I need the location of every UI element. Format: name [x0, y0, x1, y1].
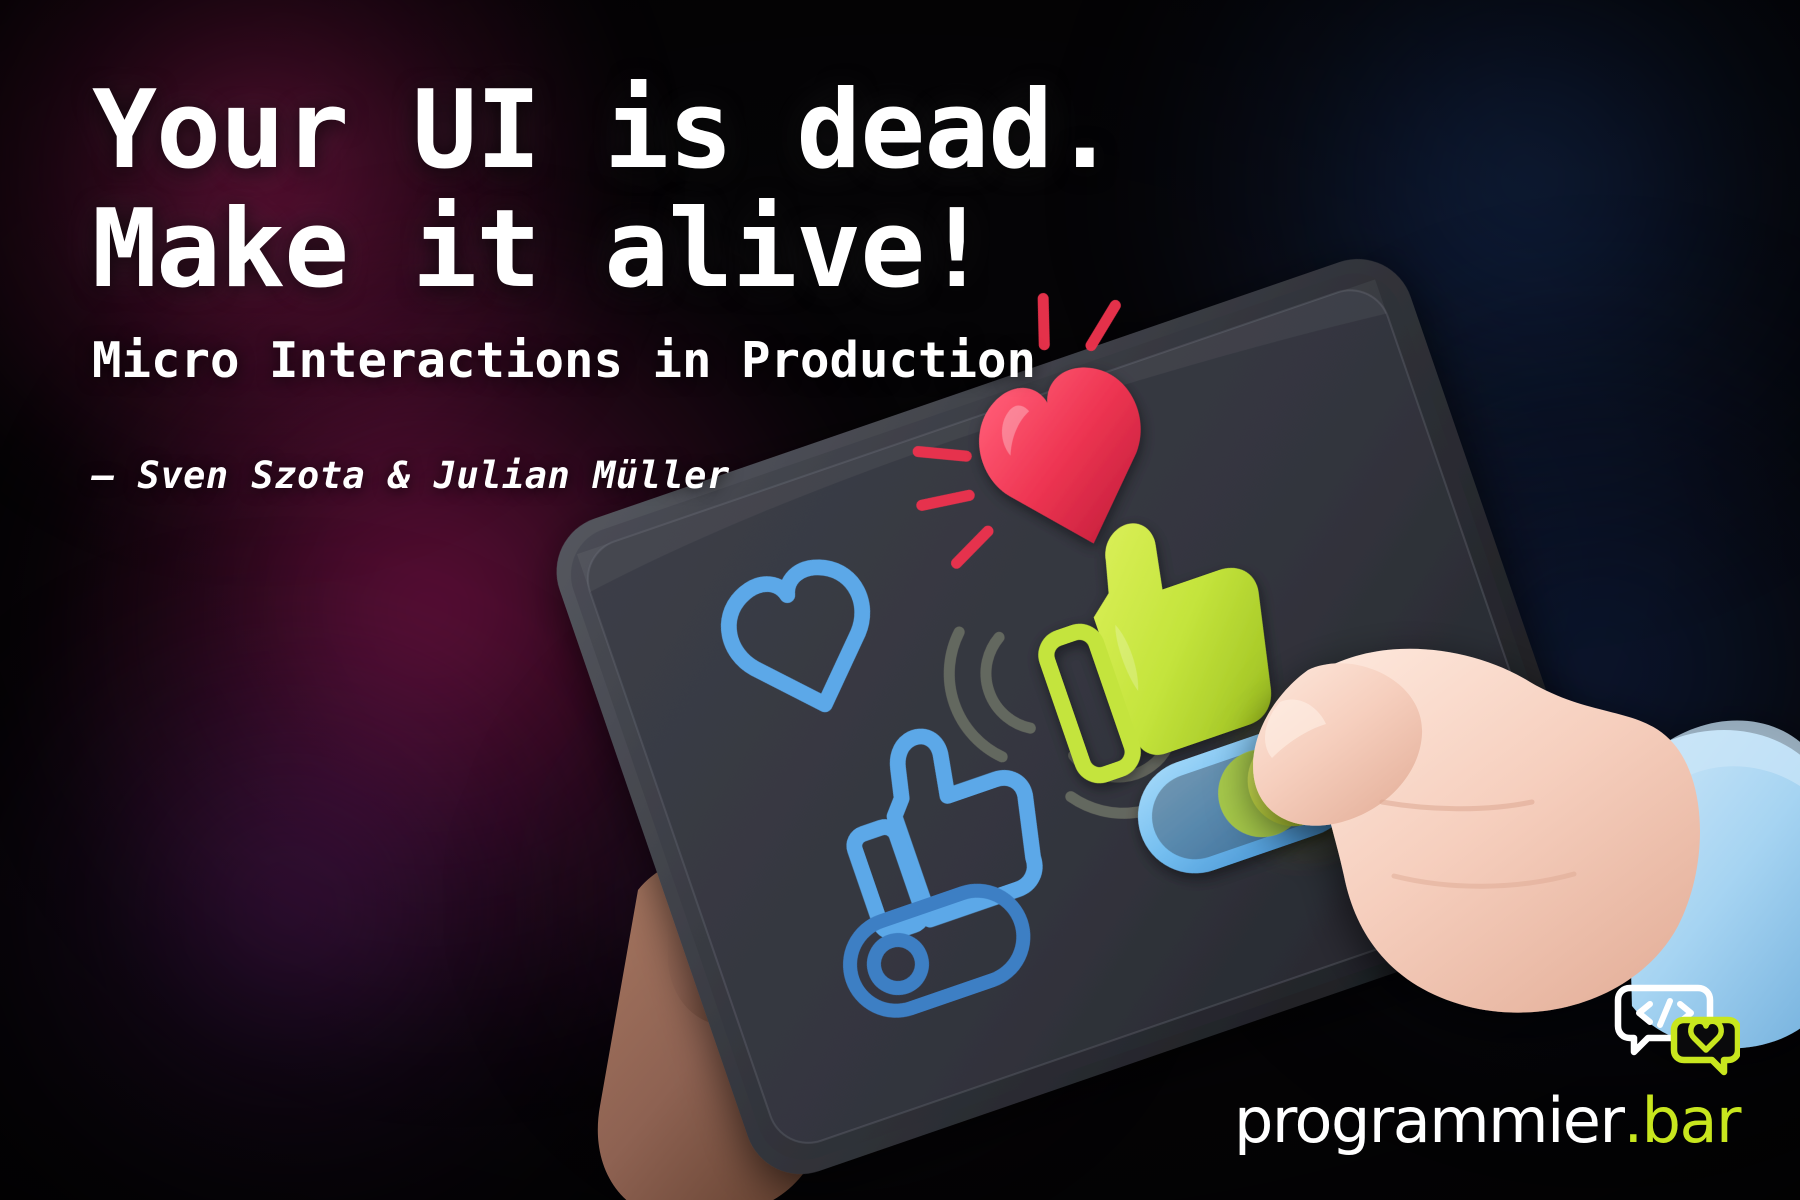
subtitle: Micro Interactions in Production	[92, 332, 1116, 391]
brand-logo[interactable]: programmier . bar	[1234, 980, 1740, 1152]
speech-bubbles-logo-icon	[1612, 980, 1740, 1076]
title-block: Your UI is dead. Make it alive! Micro In…	[92, 72, 1116, 497]
headline-line-1: Your UI is dead.	[92, 72, 1116, 191]
wordmark-accent: bar	[1642, 1090, 1740, 1152]
slide-canvas: Your UI is dead. Make it alive! Micro In…	[0, 0, 1800, 1200]
authors-line: — Sven Szota & Julian Müller	[92, 454, 1116, 497]
brand-wordmark: programmier . bar	[1234, 1090, 1740, 1152]
wordmark-dot: .	[1623, 1090, 1641, 1152]
wordmark-primary: programmier	[1234, 1090, 1623, 1152]
headline-line-2: Make it alive!	[92, 191, 1116, 310]
